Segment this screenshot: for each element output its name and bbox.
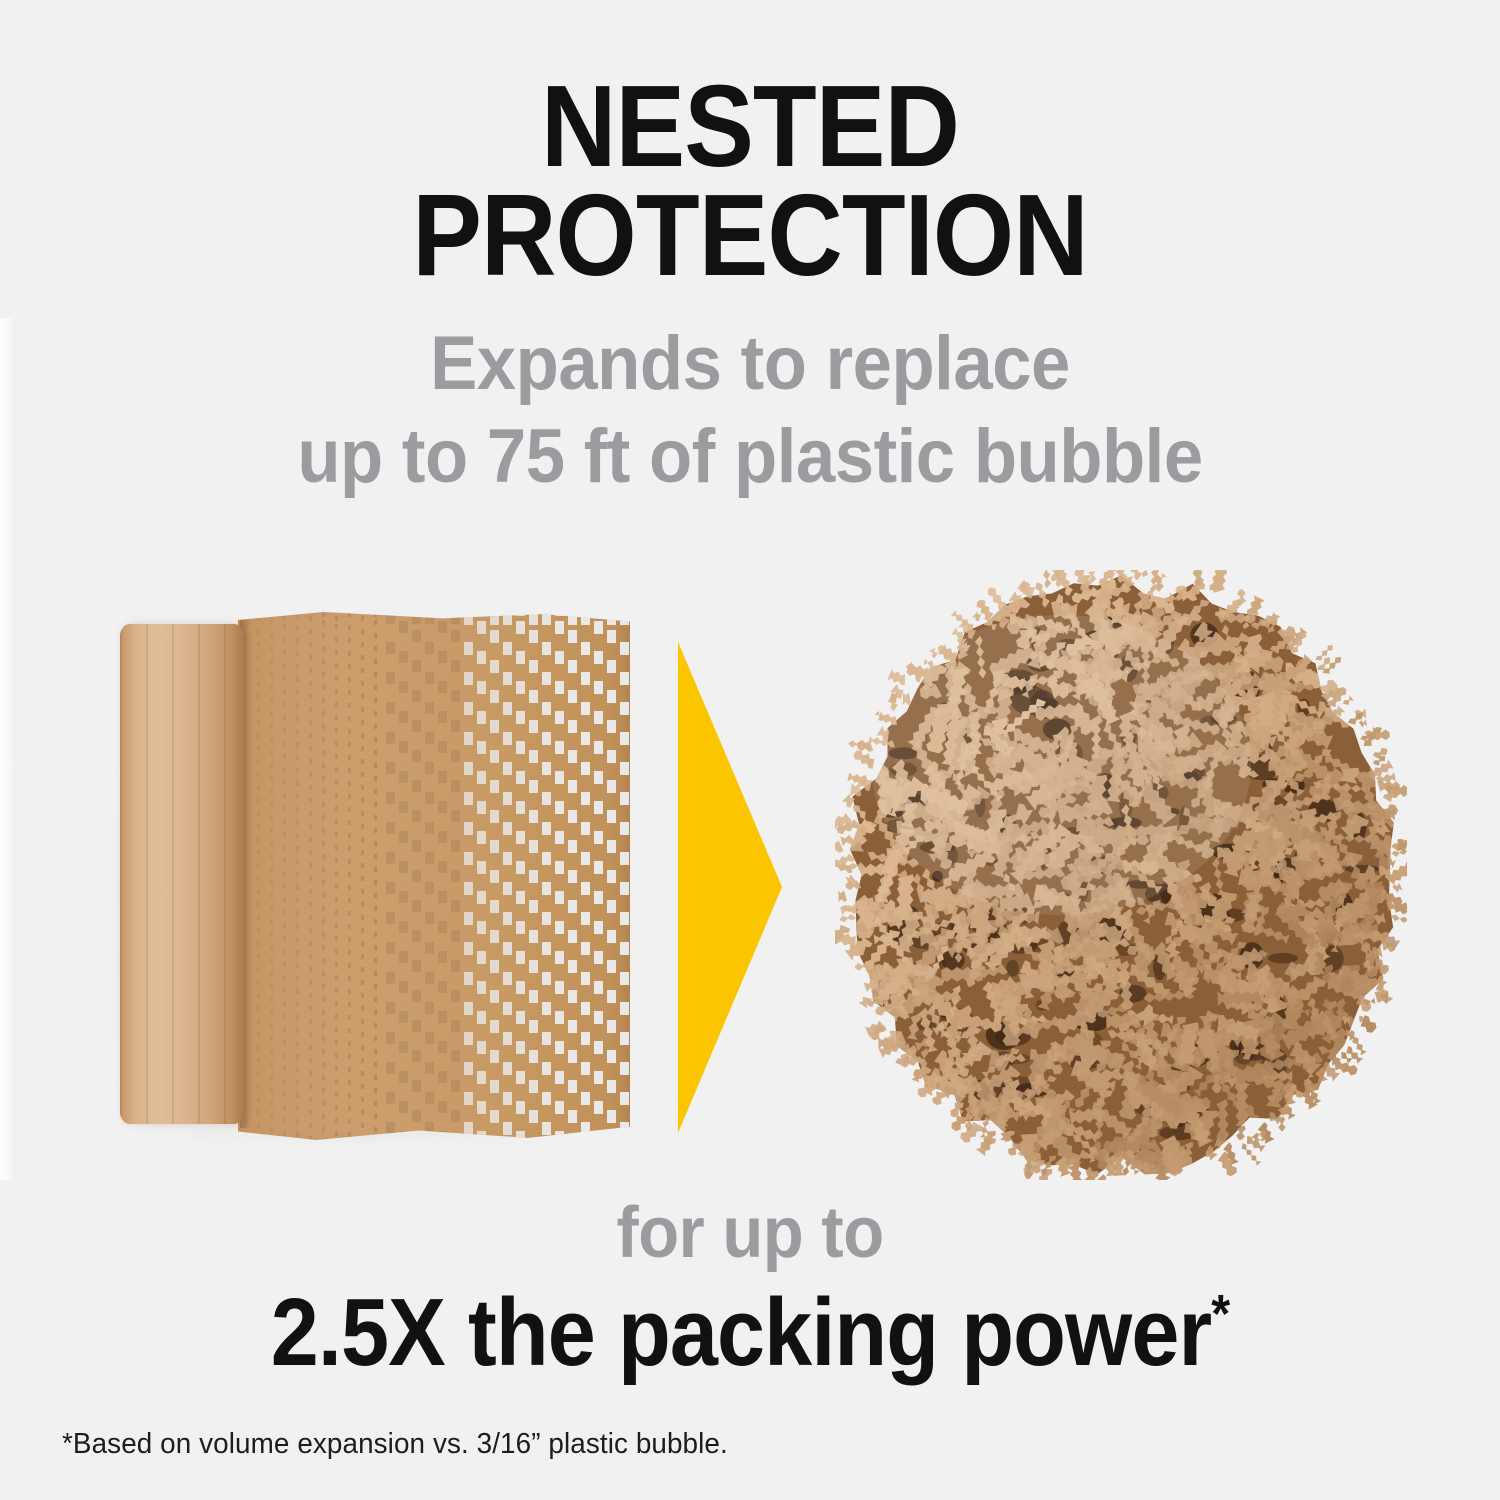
claim-value: 2.5X the packing power* <box>75 1278 1425 1388</box>
headline-line-2: PROTECTION <box>75 181 1425 290</box>
ball-body <box>850 576 1394 1175</box>
ball-drop-shadow <box>855 620 1375 1140</box>
product-feature-poster: NESTED PROTECTION Expands to replace up … <box>0 0 1500 1500</box>
die-cut-slit-pattern <box>238 612 630 1140</box>
unfurled-paper-sheet <box>238 612 630 1140</box>
rolled-paper-tube <box>120 624 244 1124</box>
expands-to-arrow <box>676 640 784 1135</box>
subtitle-line-1: Expands to replace <box>53 318 1448 411</box>
headline-line-1: NESTED <box>75 72 1425 181</box>
roll-drop-shadow <box>118 610 638 1140</box>
subtitle: Expands to replace up to 75 ft of plasti… <box>53 318 1448 503</box>
claim-lead-in: for up to <box>53 1192 1448 1274</box>
kraft-paper-roll-image <box>112 592 642 1152</box>
ball-ragged-edge <box>835 570 1407 1180</box>
roll-seam-shadow <box>240 620 250 1128</box>
footnote-disclaimer: *Based on volume expansion vs. 3/16” pla… <box>62 1428 728 1461</box>
expanded-paper-ball-image <box>815 560 1425 1185</box>
claim-value-text: 2.5X the packing power <box>271 1279 1211 1386</box>
ball-highlight <box>871 615 1251 915</box>
claim-asterisk: * <box>1211 1284 1229 1344</box>
subtitle-line-2: up to 75 ft of plastic bubble <box>53 411 1448 504</box>
ball-paper-flakes <box>835 577 1407 1180</box>
ball-shadow-voids <box>878 611 1380 1140</box>
page-title: NESTED PROTECTION <box>75 72 1425 290</box>
left-edge-highlight-strip <box>0 318 13 1180</box>
